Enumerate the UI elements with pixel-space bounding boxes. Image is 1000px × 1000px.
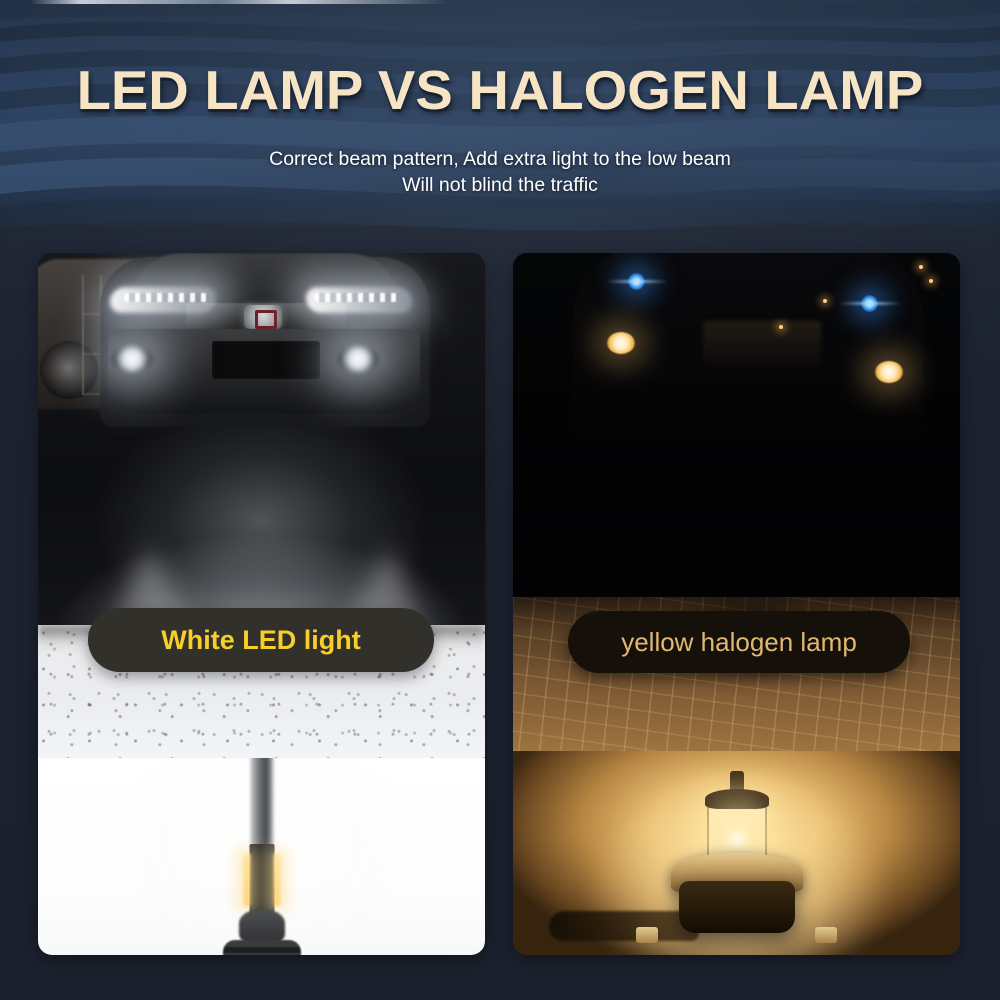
led-bulb-neck — [239, 910, 285, 944]
label-yellow-halogen-lamp[interactable]: yellow halogen lamp — [568, 611, 910, 673]
led-bulb-base — [223, 940, 301, 955]
drl-strip-left — [124, 293, 208, 302]
led-bulb-chip — [249, 844, 274, 916]
poster-canvas: LED LAMP VS HALOGEN LAMP Correct beam pa… — [0, 0, 1000, 1000]
honda-badge-icon — [244, 305, 282, 329]
blue-marker-light-right — [861, 295, 878, 312]
distant-light-4 — [823, 299, 827, 303]
fog-light-right — [338, 345, 378, 373]
distant-light-1 — [919, 265, 923, 269]
license-plate — [212, 341, 320, 379]
halogen-headlight-left — [607, 332, 635, 354]
blue-marker-light-left — [628, 273, 645, 290]
led-bulb-photo — [38, 758, 485, 955]
halogen-bulb-socket — [679, 881, 795, 933]
top-edge-highlight — [30, 0, 450, 4]
label-white-led-light[interactable]: White LED light — [88, 608, 434, 672]
led-night-car-photo — [38, 253, 485, 625]
halogen-socket-tab-right — [815, 927, 837, 943]
distant-light-2 — [929, 279, 933, 283]
led-bulb-shaft — [250, 758, 273, 852]
halogen-bulb-wire — [549, 911, 699, 941]
halogen-socket-tab-left — [636, 927, 658, 943]
background-shop-sign — [703, 321, 821, 365]
distant-light-3 — [779, 325, 783, 329]
halogen-headlight-right — [875, 361, 903, 383]
page-title: LED LAMP VS HALOGEN LAMP — [0, 58, 1000, 122]
halogen-night-street-photo — [513, 253, 960, 611]
halogen-bulb-cap — [705, 789, 769, 809]
halogen-bulb-filament — [724, 819, 750, 855]
comparison-panel-led[interactable] — [38, 253, 485, 955]
subtitle-line-2: Will not blind the traffic — [0, 172, 1000, 198]
halogen-bulb-photo — [513, 751, 960, 955]
drl-strip-right — [314, 293, 398, 302]
subtitle-line-1: Correct beam pattern, Add extra light to… — [269, 148, 731, 170]
fog-light-left — [112, 345, 152, 373]
comparison-panel-halogen[interactable] — [513, 253, 960, 955]
page-subtitle: Correct beam pattern, Add extra light to… — [0, 146, 1000, 198]
